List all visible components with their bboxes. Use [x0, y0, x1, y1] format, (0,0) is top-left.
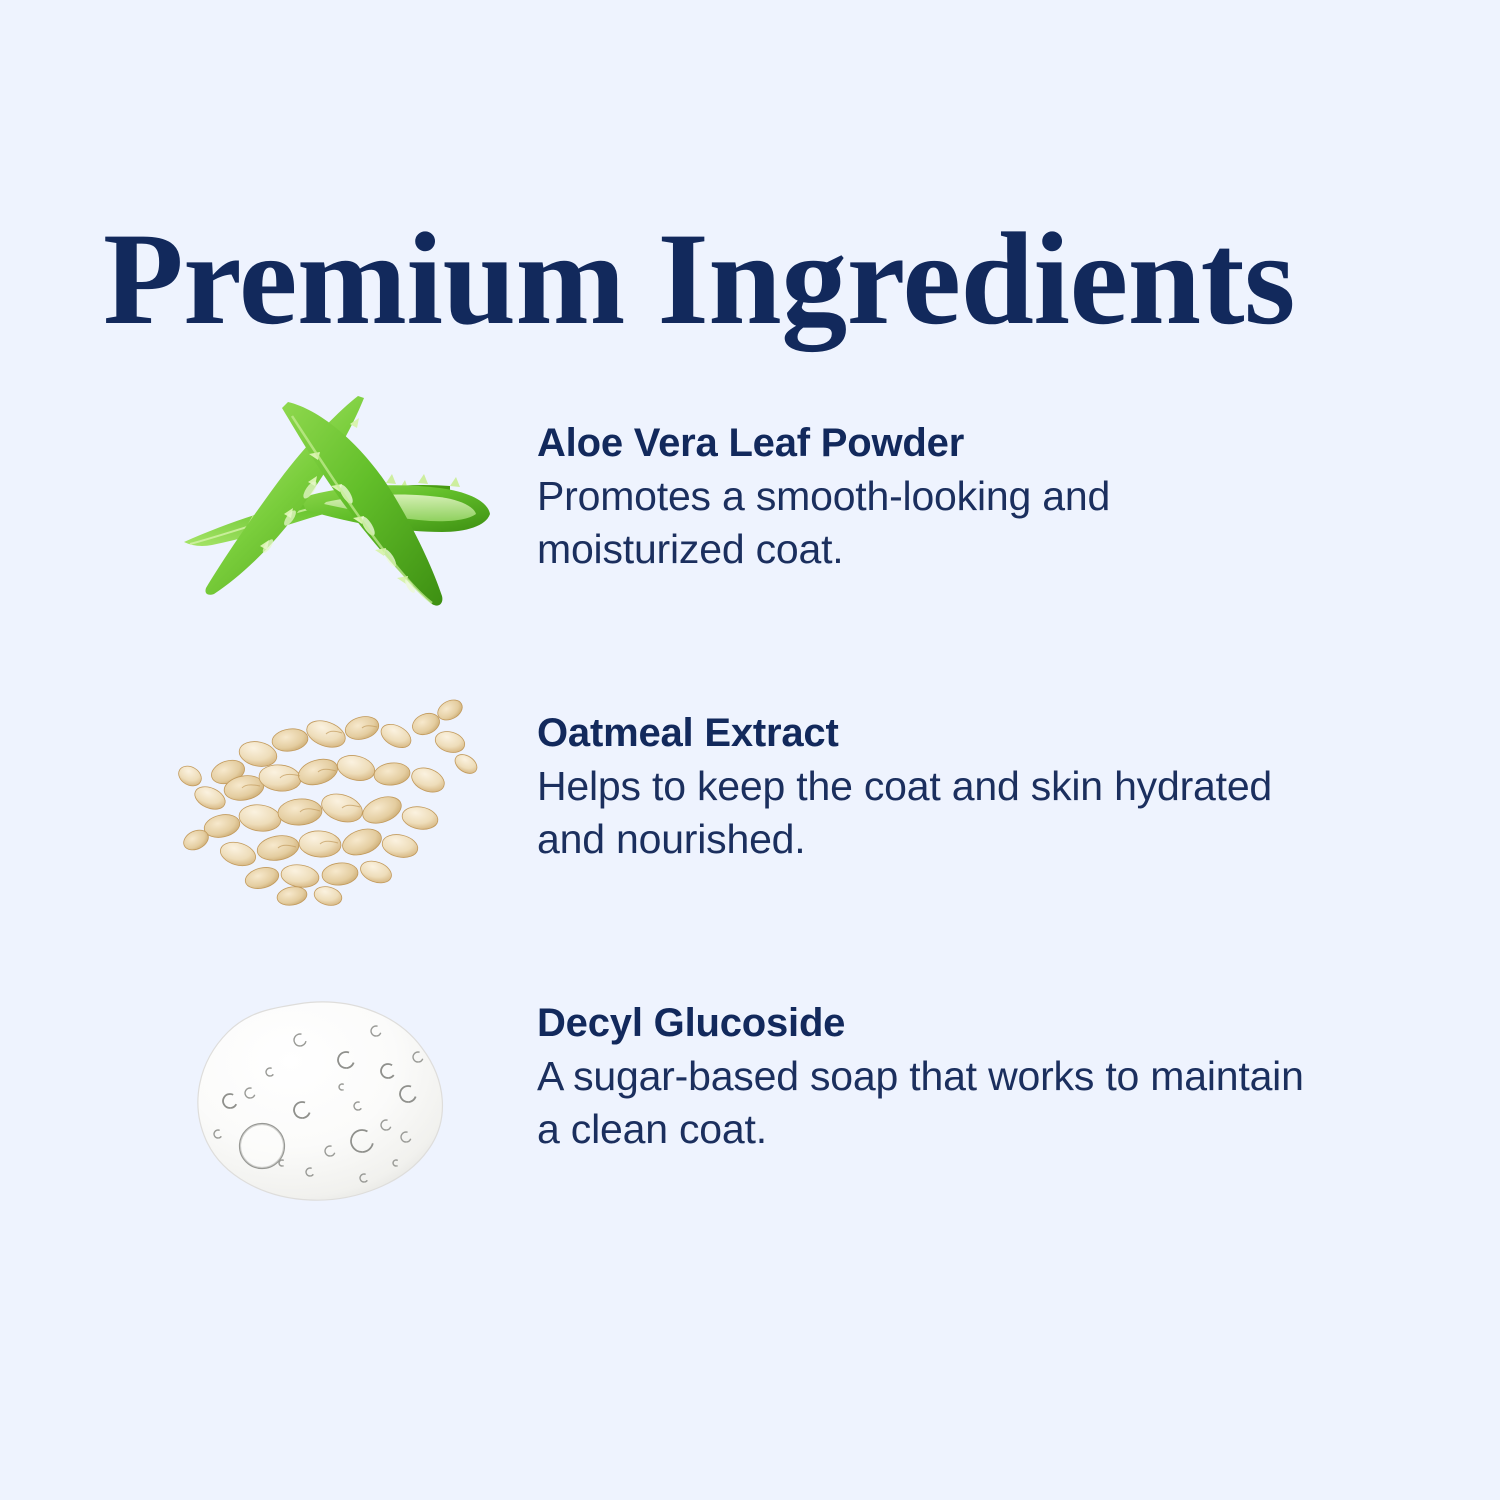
ingredient-row-decyl-glucoside: Decyl Glucoside A sugar-based soap that … — [0, 970, 1500, 1260]
ingredient-description: Promotes a smooth-looking and moisturize… — [537, 470, 1317, 576]
oat-flakes-image — [150, 680, 490, 930]
ingredient-description: Helps to keep the coat and skin hydrated… — [537, 760, 1317, 866]
ingredients-page: Premium Ingredients — [0, 0, 1500, 1500]
ingredient-description: A sugar-based soap that works to maintai… — [537, 1050, 1317, 1156]
ingredient-row-oatmeal: Oatmeal Extract Helps to keep the coat a… — [0, 680, 1500, 970]
ingredient-row-aloe-vera: Aloe Vera Leaf Powder Promotes a smooth-… — [0, 390, 1500, 680]
ingredient-name: Decyl Glucoside — [537, 998, 1317, 1048]
ingredient-name: Aloe Vera Leaf Powder — [537, 418, 1317, 468]
ingredient-text-decyl-glucoside: Decyl Glucoside A sugar-based soap that … — [537, 998, 1317, 1156]
aloe-vera-leaves-image — [150, 390, 490, 640]
ingredient-list: Aloe Vera Leaf Powder Promotes a smooth-… — [0, 0, 1500, 1500]
ingredient-name: Oatmeal Extract — [537, 708, 1317, 758]
clear-gel-blob-image — [150, 970, 490, 1220]
ingredient-text-aloe-vera: Aloe Vera Leaf Powder Promotes a smooth-… — [537, 418, 1317, 576]
ingredient-text-oatmeal: Oatmeal Extract Helps to keep the coat a… — [537, 708, 1317, 866]
